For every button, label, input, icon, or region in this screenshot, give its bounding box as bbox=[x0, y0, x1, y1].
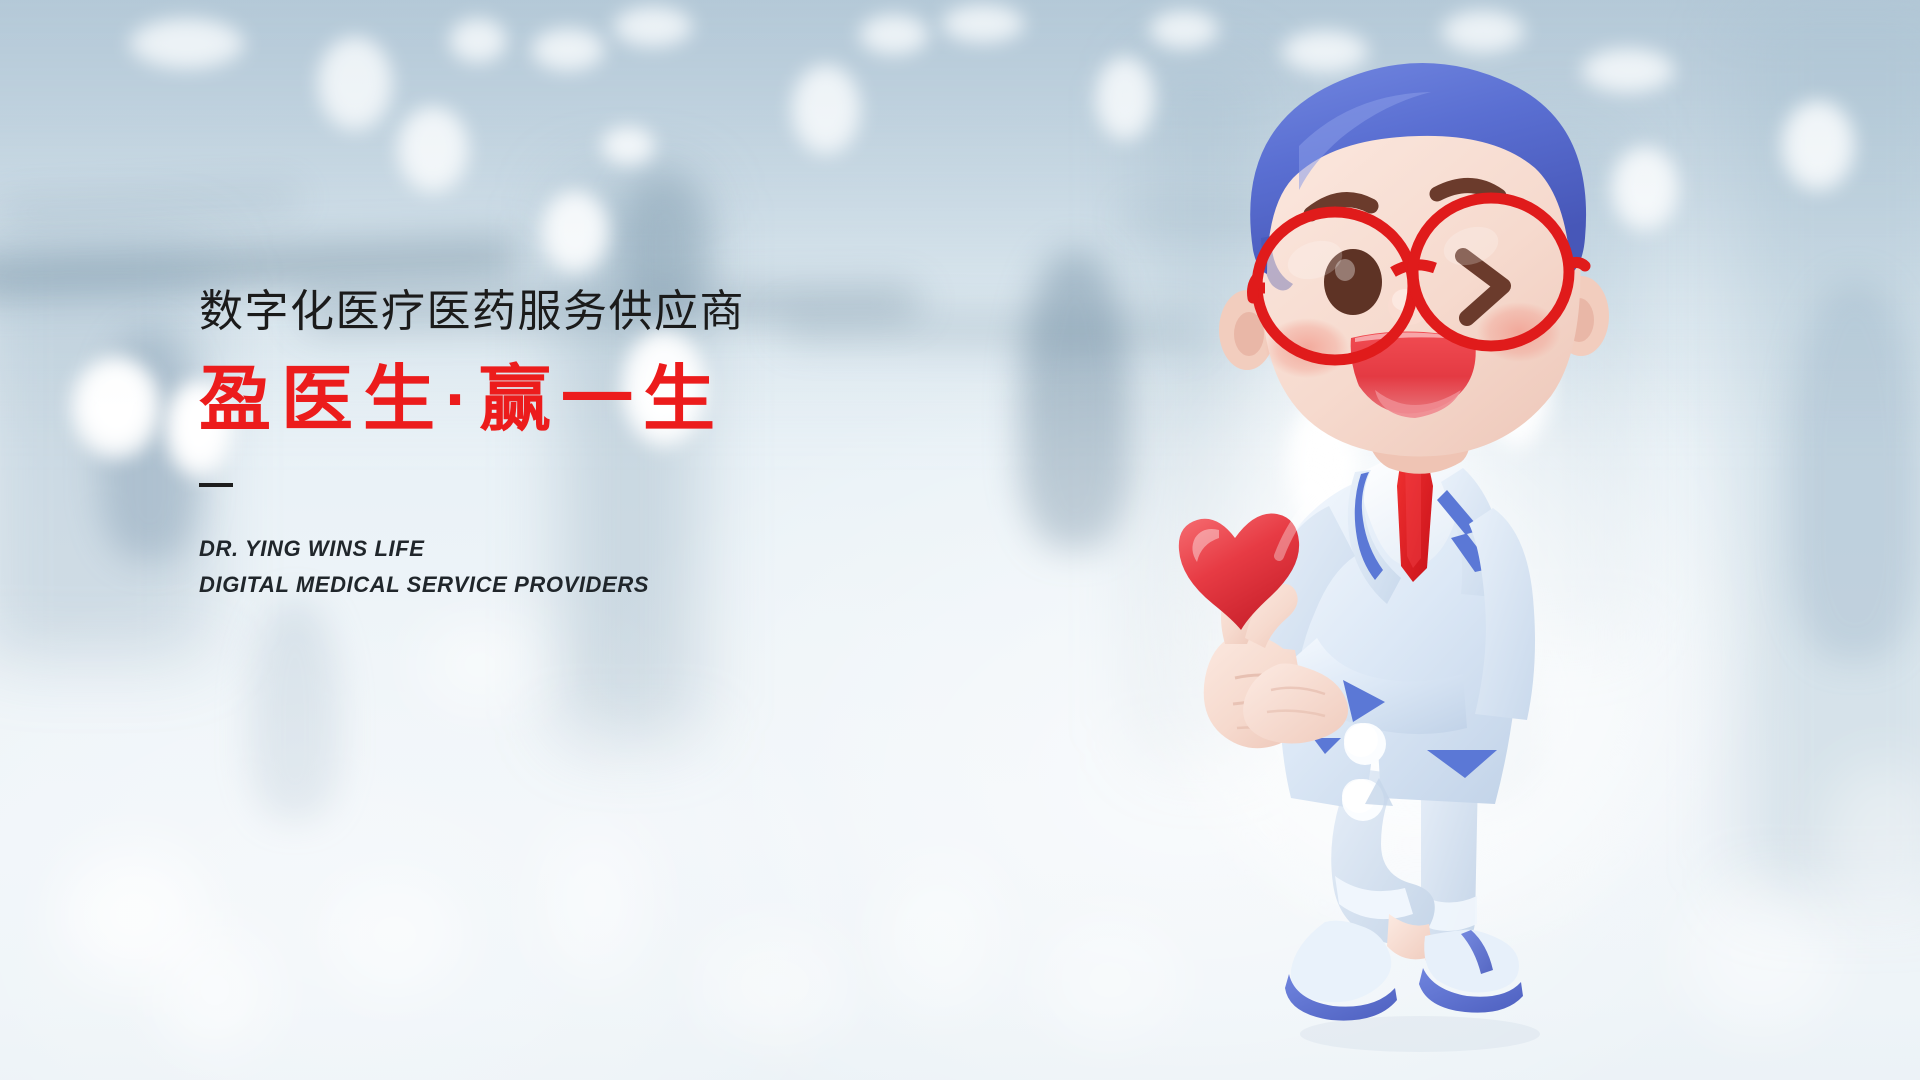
ceiling-light bbox=[316, 36, 394, 132]
banner-stage: 数字化医疗医药服务供应商 盈医生·赢一生 DR. YING WINS LIFE … bbox=[0, 0, 1920, 1080]
floor-reflection bbox=[1040, 920, 1180, 1040]
page-subtitle: 数字化医疗医药服务供应商 bbox=[199, 286, 1029, 338]
floor-reflection bbox=[700, 930, 850, 1040]
ceiling-light bbox=[790, 64, 862, 156]
english-line-2: DIGITAL MEDICAL SERVICE PROVIDERS bbox=[199, 567, 1029, 603]
english-line-1: DR. YING WINS LIFE bbox=[199, 531, 1029, 567]
floor-reflection bbox=[420, 620, 540, 710]
ceiling-light bbox=[128, 18, 246, 70]
floor-reflection bbox=[1680, 880, 1840, 1030]
blurred-person-silhouette bbox=[1020, 250, 1130, 550]
ceiling-light bbox=[540, 190, 610, 274]
ceiling-light bbox=[396, 106, 470, 194]
mascot-cheek-left bbox=[1265, 318, 1349, 378]
page-title: 盈医生·赢一生 bbox=[199, 360, 1029, 441]
ceiling-light bbox=[448, 18, 508, 64]
ceiling-light bbox=[530, 28, 606, 72]
hero-copy: 数字化医疗医药服务供应商 盈医生·赢一生 DR. YING WINS LIFE … bbox=[199, 286, 1029, 603]
ceiling-light bbox=[1094, 56, 1156, 142]
ceiling-light bbox=[858, 14, 930, 56]
mascot-doctor-illustration bbox=[1175, 38, 1665, 1058]
ceiling-light bbox=[70, 356, 162, 460]
ceiling-light bbox=[940, 4, 1026, 44]
ceiling-light bbox=[612, 6, 694, 48]
floor-reflection bbox=[160, 930, 270, 1050]
ceiling-light bbox=[1780, 100, 1856, 192]
english-tagline: DR. YING WINS LIFE DIGITAL MEDICAL SERVI… bbox=[199, 531, 1029, 603]
mascot-cheek-right bbox=[1477, 302, 1561, 362]
floor-reflection bbox=[540, 820, 650, 980]
divider bbox=[199, 483, 233, 487]
blurred-person-silhouette bbox=[250, 600, 340, 820]
floor-reflection bbox=[330, 880, 460, 990]
blurred-person-silhouette bbox=[1790, 280, 1920, 660]
ceiling-light bbox=[600, 126, 656, 166]
floor-reflection bbox=[880, 860, 1000, 1010]
